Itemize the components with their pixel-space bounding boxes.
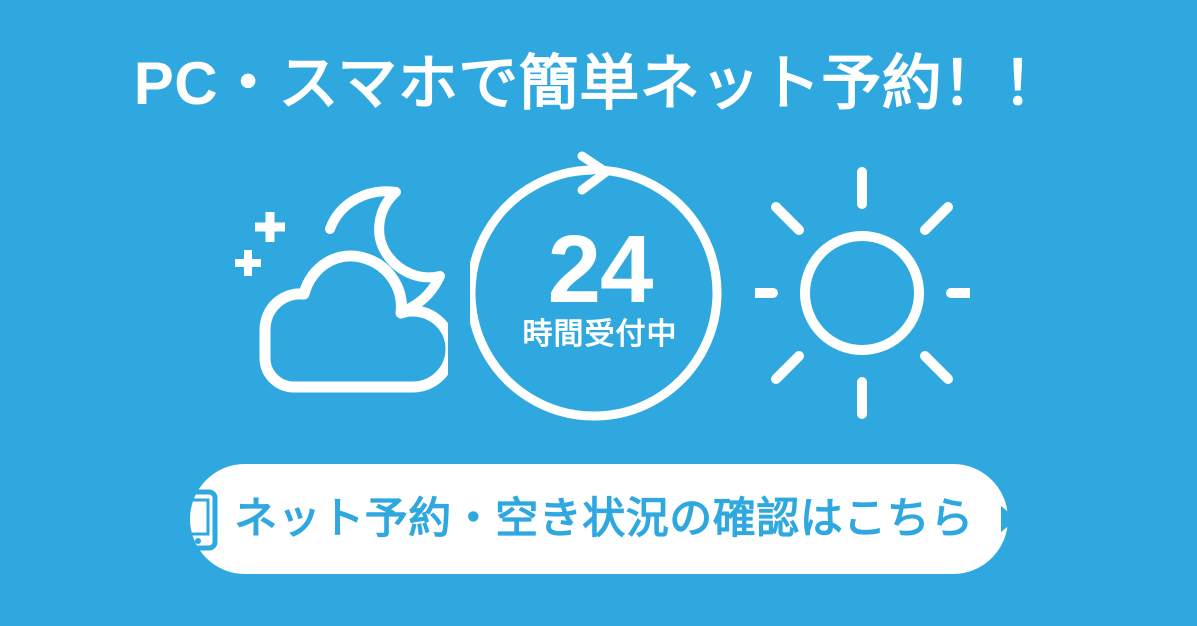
moon-cloud-icon	[218, 150, 448, 430]
sun-icon-group	[755, 150, 970, 430]
phone-home-button	[195, 538, 201, 544]
cta-inner: ネット予約・空き状況の確認はこちら	[178, 487, 1020, 551]
reservation-banner: PC・スマホで簡単ネット予約！！	[0, 0, 1197, 626]
icon-row: 24 時間受付中	[0, 150, 1197, 430]
reservation-cta-button[interactable]: ネット予約・空き状況の確認はこちら	[190, 464, 1008, 574]
night-icon-group	[218, 150, 448, 430]
sparkle-plus-icon	[255, 212, 285, 242]
circular-arrow-icon	[470, 150, 730, 430]
arrow-right-triangle-icon	[998, 504, 1020, 534]
phone-screen	[188, 500, 208, 534]
sparkle-plus-icon	[235, 250, 261, 276]
sun-icon	[755, 150, 970, 430]
badge-circle	[471, 170, 717, 416]
sun-rays	[755, 172, 970, 414]
24h-badge: 24 時間受付中	[470, 150, 730, 430]
smartphone-icon	[178, 489, 218, 551]
page-title: PC・スマホで簡単ネット予約！！	[0, 52, 1197, 115]
sun-disc	[805, 236, 919, 350]
cta-label: ネット予約・空き状況の確認はこちら	[234, 498, 974, 541]
